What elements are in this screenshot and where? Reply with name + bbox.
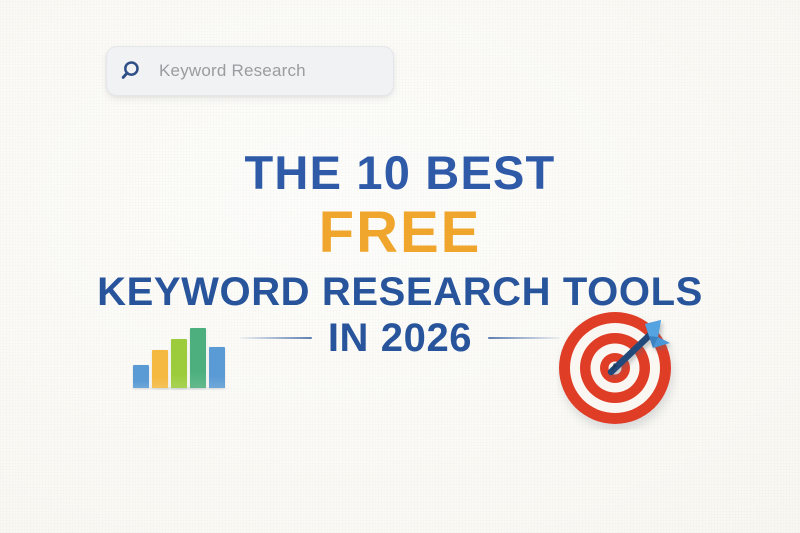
poster-canvas: Keyword Research THE 10 BEST FREE KEYWOR…	[0, 0, 800, 533]
divider-rule-right	[488, 337, 560, 339]
chart-bar	[190, 328, 206, 388]
chart-bar	[171, 339, 187, 388]
divider-rule-left	[240, 337, 312, 339]
bar-chart-graphic	[133, 322, 229, 392]
chart-bars	[133, 322, 229, 388]
title-line-1: THE 10 BEST	[0, 148, 800, 198]
search-input[interactable]: Keyword Research	[106, 46, 394, 96]
title-line-2-free: FREE	[0, 202, 800, 264]
search-icon	[121, 59, 145, 83]
dartboard-icon	[557, 306, 681, 430]
chart-bar	[133, 365, 149, 388]
chart-bar	[209, 347, 225, 388]
title-line-4-year: IN 2026	[328, 316, 472, 360]
chart-bar	[152, 350, 168, 388]
search-placeholder-text: Keyword Research	[159, 61, 306, 81]
